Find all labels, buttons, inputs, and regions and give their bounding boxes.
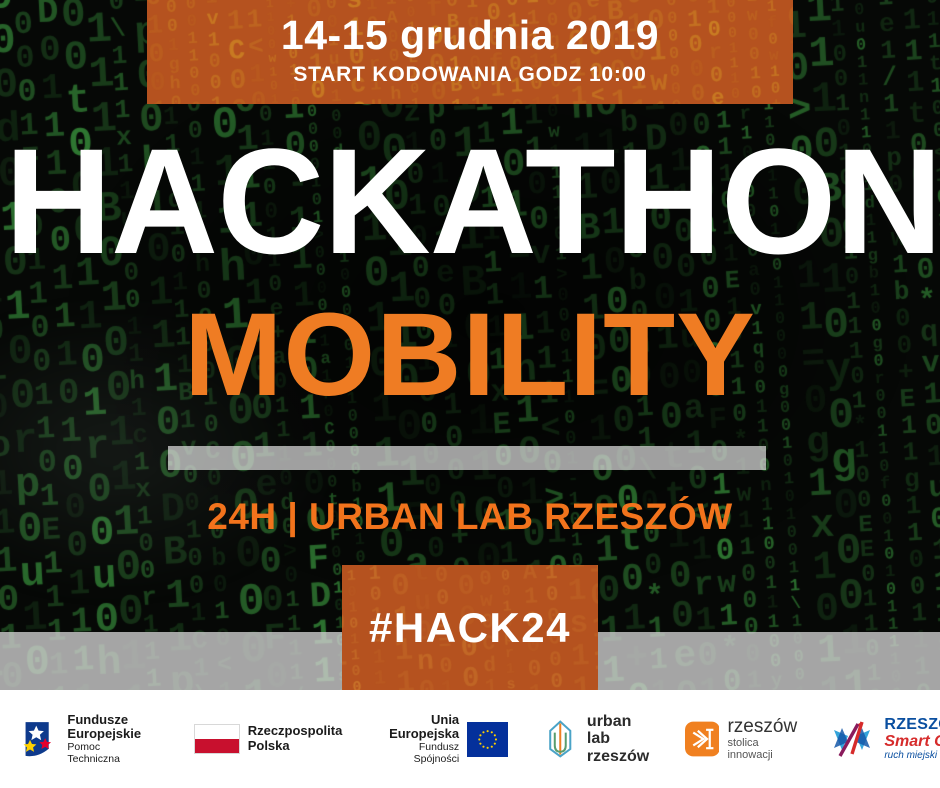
logo-fundusze-europejskie: Fundusze Europejskie Pomoc Techniczna xyxy=(22,713,146,766)
flag-white-stripe xyxy=(195,725,239,739)
logo-line-1: Fundusze xyxy=(67,713,145,728)
logo-line-2: Smart City xyxy=(884,734,940,751)
logo-line-2: Polska xyxy=(248,739,343,754)
logo-line-1: Rzeczpospolita xyxy=(248,724,343,739)
logo-line-1: rzeszów xyxy=(727,717,800,737)
smart-city-text: RZESZÓW Smart City ruch miejski xyxy=(884,717,940,762)
rzeczpospolita-polska-text: Rzeczpospolita Polska xyxy=(248,724,343,753)
urban-lab-drop-icon xyxy=(542,716,579,762)
logo-line-2: stolica innowacji xyxy=(727,737,800,761)
fundusze-europejskie-text: Fundusze Europejskie Pomoc Techniczna xyxy=(67,713,145,766)
logo-urban-lab-rzeszow: urban lab rzeszów xyxy=(542,713,652,766)
divider-bar xyxy=(168,446,766,470)
logo-line-1: Unia Europejska xyxy=(378,713,459,742)
flag-red-stripe xyxy=(195,739,239,753)
event-date: 14-15 grudnia 2019 xyxy=(147,14,793,57)
logo-rzeszow-stolica-innowacji: rzeszów stolica innowacji xyxy=(685,717,801,761)
fundusze-europejskie-icon xyxy=(22,716,59,762)
smart-city-arrows-icon xyxy=(828,716,876,762)
rzeszow-arrows-icon xyxy=(685,720,720,758)
venue-line: 24H | URBAN LAB RZESZÓW xyxy=(0,496,940,538)
hashtag-text: #HACK24 xyxy=(342,565,598,690)
unia-europejska-text: Unia Europejska Fundusz Spójności xyxy=(378,713,459,766)
poster: 14-15 grudnia 2019 START KODOWANIA GODZ … xyxy=(0,0,940,788)
poster-subheadline: MOBILITY xyxy=(0,296,940,414)
logo-line-3: Pomoc Techniczna xyxy=(67,742,145,766)
logo-line-1: urban lab xyxy=(587,713,653,748)
logo-rzeczpospolita-polska: Rzeczpospolita Polska xyxy=(194,724,343,754)
poster-headline: HACKATHON xyxy=(5,128,936,275)
logo-line-1: RZESZÓW xyxy=(884,717,940,734)
logo-rzeszow-smart-city: RZESZÓW Smart City ruch miejski xyxy=(828,716,940,762)
event-start-time: START KODOWANIA GODZ 10:00 xyxy=(147,63,793,87)
eu-flag-icon xyxy=(467,722,508,757)
sponsor-footer: Fundusze Europejskie Pomoc Techniczna Rz… xyxy=(0,690,940,788)
logo-line-3: ruch miejski xyxy=(884,750,940,761)
poland-flag-icon xyxy=(194,724,240,754)
logo-line-2: Europejskie xyxy=(67,727,145,742)
rzeszow-stolica-text: rzeszów stolica innowacji xyxy=(727,717,800,761)
date-banner-text: 14-15 grudnia 2019 START KODOWANIA GODZ … xyxy=(147,14,793,87)
logo-line-2: rzeszów xyxy=(587,748,653,766)
urban-lab-text: urban lab rzeszów xyxy=(587,713,653,766)
logo-line-2: Fundusz Spójności xyxy=(378,742,459,766)
hashtag-box: #HACK24 xyxy=(342,565,598,690)
logo-unia-europejska: Unia Europejska Fundusz Spójności xyxy=(378,713,508,766)
date-banner: 14-15 grudnia 2019 START KODOWANIA GODZ … xyxy=(147,0,793,104)
